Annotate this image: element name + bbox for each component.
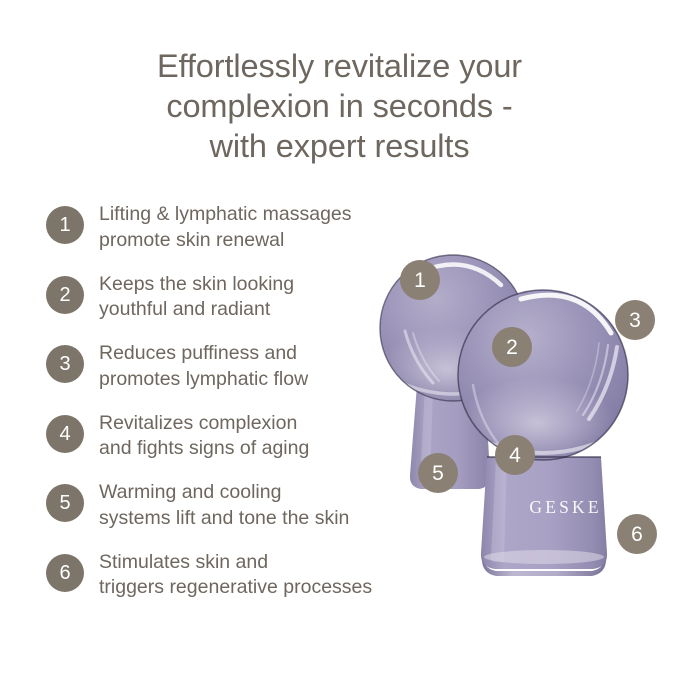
list-item: 3 Reduces puffiness and promotes lymphat…	[46, 339, 426, 392]
feature-text-6-line-2: triggers regenerative processes	[99, 575, 372, 601]
feature-text-2: Keeps the skin looking youthful and radi…	[99, 270, 294, 323]
feature-text-3-line-2: promotes lymphatic flow	[99, 367, 308, 393]
feature-number-badge-6: 6	[46, 554, 84, 592]
product-callout-1: 1	[400, 260, 440, 300]
feature-text-4-line-2: and fights signs of aging	[99, 436, 309, 462]
feature-number-badge-1: 1	[46, 206, 84, 244]
product-callout-3: 3	[615, 300, 655, 340]
feature-text-1: Lifting & lymphatic massages promote ski…	[99, 200, 352, 253]
feature-text-3-line-1: Reduces puffiness and	[99, 341, 308, 367]
feature-text-5-line-1: Warming and cooling	[99, 480, 349, 506]
feature-number-badge-2: 2	[46, 276, 84, 314]
feature-text-4-line-1: Revitalizes complexion	[99, 411, 309, 437]
feature-text-4: Revitalizes complexion and fights signs …	[99, 409, 309, 462]
feature-list: 1 Lifting & lymphatic massages promote s…	[46, 200, 426, 617]
list-item: 5 Warming and cooling systems lift and t…	[46, 478, 426, 531]
front-device	[458, 290, 628, 576]
feature-text-6: Stimulates skin and triggers regenerativ…	[99, 548, 372, 601]
product-callout-4: 4	[495, 435, 535, 475]
feature-text-3: Reduces puffiness and promotes lymphatic…	[99, 339, 308, 392]
feature-text-2-line-2: youthful and radiant	[99, 297, 294, 323]
feature-number-badge-5: 5	[46, 484, 84, 522]
list-item: 1 Lifting & lymphatic massages promote s…	[46, 200, 426, 253]
feature-text-5-line-2: systems lift and tone the skin	[99, 506, 349, 532]
product-callout-2: 2	[492, 327, 532, 367]
list-item: 4 Revitalizes complexion and fights sign…	[46, 409, 426, 462]
product-callout-5: 5	[418, 453, 458, 493]
feature-number-badge-3: 3	[46, 345, 84, 383]
page-title: Effortlessly revitalize your complexion …	[0, 46, 679, 166]
feature-text-2-line-1: Keeps the skin looking	[99, 272, 294, 298]
headline-line-3: with expert results	[0, 126, 679, 166]
feature-number-badge-4: 4	[46, 415, 84, 453]
product-callout-6: 6	[617, 514, 657, 554]
headline-line-1: Effortlessly revitalize your	[0, 46, 679, 86]
infographic-canvas: Effortlessly revitalize your complexion …	[0, 0, 679, 679]
list-item: 6 Stimulates skin and triggers regenerat…	[46, 548, 426, 601]
feature-text-5: Warming and cooling systems lift and ton…	[99, 478, 349, 531]
feature-text-1-line-2: promote skin renewal	[99, 228, 352, 254]
list-item: 2 Keeps the skin looking youthful and ra…	[46, 270, 426, 323]
headline-line-2: complexion in seconds -	[0, 86, 679, 126]
feature-text-1-line-1: Lifting & lymphatic massages	[99, 202, 352, 228]
feature-text-6-line-1: Stimulates skin and	[99, 550, 372, 576]
